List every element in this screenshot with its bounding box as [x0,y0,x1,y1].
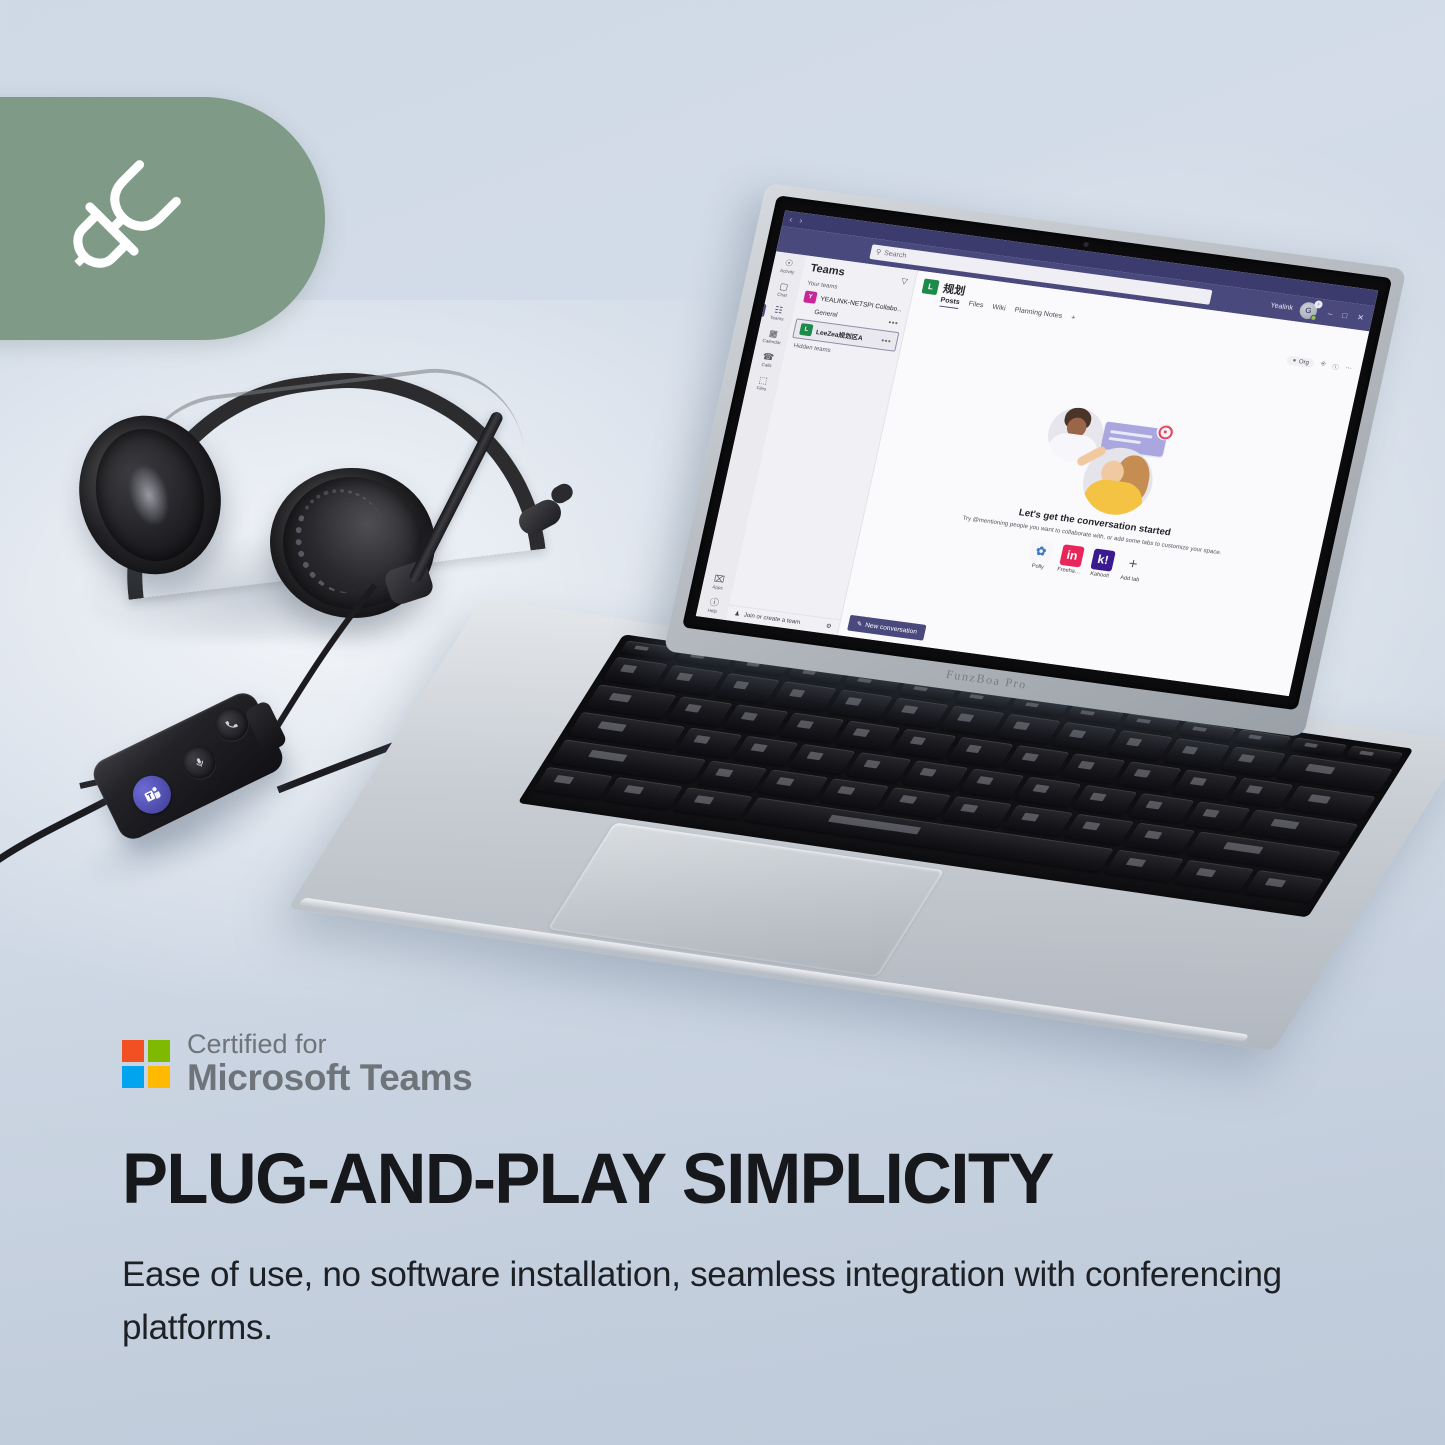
more-options-icon[interactable]: ⋯ [1345,364,1353,372]
body-copy: Ease of use, no software installation, s… [122,1248,1302,1354]
two-people-chatting-illustration [1024,402,1192,524]
more-options-icon[interactable]: ••• [880,335,892,345]
sidebar-item-files[interactable]: ⬚ Files [746,373,779,393]
invision-icon: in [1059,544,1085,567]
add-tab-button[interactable]: + [1070,314,1076,324]
app-tile-add-tab[interactable]: + Add tab [1119,552,1146,583]
plug-and-socket-icon [31,126,215,310]
avatar-initial: G [1304,305,1312,315]
apps-grid-icon: ⌧ [713,573,726,584]
sidebar-item-teams[interactable]: ☷ Teams [761,303,794,323]
org-label: Org [1298,359,1309,366]
chat-icon: ▢ [779,281,790,292]
sidebar-item-calls[interactable]: ☎ Calls [751,350,784,370]
people-add-icon: ♟ [734,610,741,618]
channel-avatar: L [799,323,814,336]
microphone-mute-icon [191,754,207,770]
microsoft-teams-label: Microsoft Teams [187,1059,472,1097]
tab-files[interactable]: Files [967,301,984,313]
notification-badge-icon[interactable]: ♪ [1314,300,1324,309]
app-tile-kahoot[interactable]: k! Kahoot! [1089,548,1116,579]
minimize-button[interactable]: – [1327,308,1333,317]
app-tile-label: Add tab [1120,575,1140,583]
teams-people-icon: ☷ [774,305,784,316]
help-question-icon: ⓘ [709,597,720,608]
window-controls: – □ ✕ [1327,308,1365,322]
microsoft-logo-icon [122,1040,170,1088]
sidebar-item-label: Help [707,608,717,614]
more-options-icon[interactable]: ••• [887,318,899,328]
sidebar-item-label: Activity [780,268,795,275]
new-conversation-label: New conversation [864,621,917,635]
channel-name: General [814,309,839,319]
search-icon: ⚲ [875,248,882,256]
kahoot-icon: k! [1090,548,1116,571]
join-or-create-team-button[interactable]: ♟ Join or create a team ⚙ [726,604,840,635]
org-chart-icon: ⚭ [1291,357,1298,365]
sidebar-item-label: Calendar [762,338,781,345]
teams-body: ☉ Activity ▢ Chat ☷ Teams ▦ [696,251,1369,696]
pencil-compose-icon: ✎ [856,620,863,629]
microsoft-teams-icon [139,781,166,808]
sidebar-item-label: Chat [777,292,788,298]
maximize-button[interactable]: □ [1341,310,1348,319]
microsoft-teams-window[interactable]: ‹ › ⚲ Search Yealink G ♪ [696,210,1378,696]
page-title: Teams [809,262,846,278]
feature-badge [0,97,325,340]
app-tile-label: Freeha… [1057,566,1081,575]
sidebar-item-label: Teams [770,315,784,322]
team-avatar: Y [803,290,818,303]
calendar-icon: ▦ [768,328,779,339]
app-tiles: ✿ Polly in Freeha… k! Kahoot! [1027,540,1146,584]
search-placeholder: Search [883,249,907,259]
sidebar-item-help[interactable]: ⓘ Help [707,597,721,614]
app-tile-label: Polly [1031,563,1044,570]
app-tile-label: Kahoot! [1090,571,1110,579]
laptop-screen-lid: ‹ › ⚲ Search Yealink G ♪ [663,183,1406,737]
channel-empty-state: Let's get the conversation started Try @… [844,313,1360,669]
filter-funnel-icon[interactable]: ▽ [900,276,908,286]
channel-name: LeeZea规划区A [815,326,864,342]
bell-icon: ☉ [784,258,794,269]
certified-for-label: Certified for [187,1031,472,1059]
new-conversation-button[interactable]: ✎ New conversation [847,615,927,641]
avatar[interactable]: G ♪ [1298,301,1319,320]
meet-now-camera-icon[interactable]: ⎆ [1320,361,1326,368]
sidebar-item-chat[interactable]: ▢ Chat [767,280,800,300]
certification-text: Certified for Microsoft Teams [187,1031,472,1096]
rail-bottom-group: ⌧ Apps ⓘ Help [706,573,726,618]
laptop: ‹ › ⚲ Search Yealink G ♪ [385,220,1395,1010]
phone-icon: ☎ [762,351,775,362]
user-label: Yealink [1270,302,1294,312]
sidebar-item-label: Files [756,385,767,391]
app-tile-invision[interactable]: in Freeha… [1057,544,1086,575]
join-or-create-team-label: Join or create a team [743,612,801,625]
channel-avatar: L [922,278,940,295]
sidebar-item-apps[interactable]: ⌧ Apps [712,573,726,590]
phone-icon [223,715,240,732]
webcam-icon [1083,242,1089,248]
sidebar-item-label: Calls [761,362,772,368]
sidebar-item-activity[interactable]: ☉ Activity [772,256,805,276]
sidebar-item-label: Apps [712,584,723,590]
headline: PLUG-AND-PLAY SIMPLICITY [122,1139,1053,1220]
screen-bezel: ‹ › ⚲ Search Yealink G ♪ [682,195,1392,710]
polly-icon: ✿ [1028,540,1054,563]
app-tile-polly[interactable]: ✿ Polly [1027,540,1054,571]
certified-for-microsoft-teams-badge: Certified for Microsoft Teams [122,1031,472,1096]
close-button[interactable]: ✕ [1356,312,1365,322]
forward-arrow-icon[interactable]: › [798,216,803,226]
presence-indicator [1310,314,1317,321]
channel-pane: L 规划 Posts Files Wiki Planning Notes + [838,271,1369,697]
tab-wiki[interactable]: Wiki [991,304,1006,316]
plus-icon: + [1120,552,1146,575]
back-arrow-icon[interactable]: ‹ [788,214,793,224]
sidebar-item-calendar[interactable]: ▦ Calendar [756,326,789,346]
gear-icon[interactable]: ⚙ [825,623,832,631]
files-icon: ⬚ [758,375,769,386]
